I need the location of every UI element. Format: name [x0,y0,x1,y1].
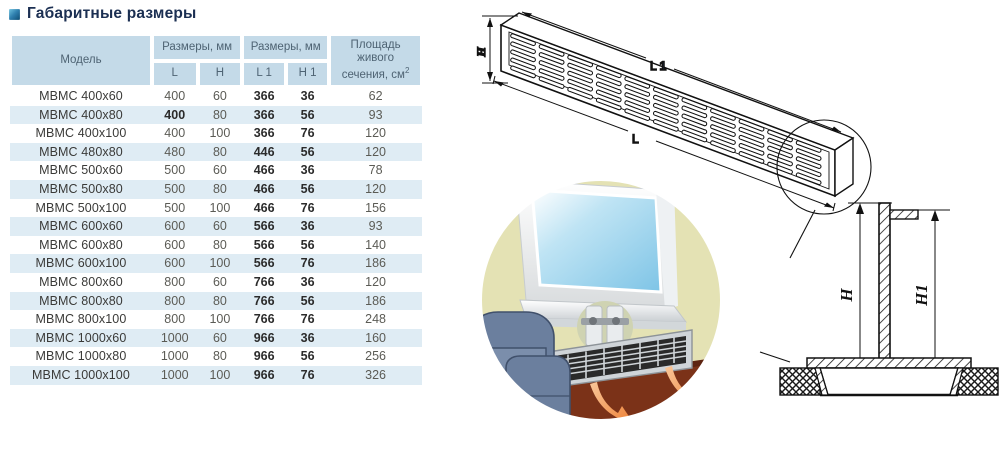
table-row: МВМС 400x10040010036676120 [10,124,422,143]
cell-model: МВМС 400x60 [10,87,152,106]
cell-model: МВМС 400x100 [10,124,152,143]
cell-h1: 76 [286,199,329,218]
cell-l1: 466 [242,161,286,180]
cell-h: 80 [198,292,243,311]
cell-free-area: 62 [329,87,422,106]
room-application-illustration [470,180,721,424]
dimensions-table: Модель Размеры, мм Размеры, мм Площадь ж… [10,34,422,385]
cell-l1: 766 [242,273,286,292]
cell-l: 800 [152,310,198,329]
cell-h: 60 [198,329,243,348]
mount-leader-line [760,352,790,362]
cell-h1: 56 [286,236,329,255]
cell-h1: 56 [286,180,329,199]
table-row: МВМС 600x806008056656140 [10,236,422,255]
cell-h: 100 [198,254,243,273]
cell-free-area: 120 [329,124,422,143]
cell-free-area: 120 [329,180,422,199]
cell-l1: 466 [242,180,286,199]
table-row: МВМС 500x805008046656120 [10,180,422,199]
cell-model: МВМС 400x80 [10,106,152,125]
cell-model: МВМС 600x100 [10,254,152,273]
cell-l: 1000 [152,329,198,348]
duct-body [820,368,958,395]
header-l: L [152,61,198,87]
detail-leader-line [790,210,815,258]
cell-h1: 56 [286,292,329,311]
header-group-inner: Размеры, мм [242,34,329,61]
grille-vertical-section: H H1 [837,203,950,383]
label-h-iso: H [474,47,488,58]
cell-h1: 76 [286,310,329,329]
cell-l: 600 [152,236,198,255]
technical-drawings: L 1 L H [460,0,1001,464]
label-h-section: H [837,288,856,303]
cell-l1: 966 [242,347,286,366]
cell-free-area: 186 [329,292,422,311]
label-l1: L 1 [650,59,667,73]
cell-l: 1000 [152,366,198,385]
cell-h: 80 [198,236,243,255]
cell-l1: 966 [242,366,286,385]
cell-free-area: 140 [329,236,422,255]
cell-l1: 766 [242,310,286,329]
cell-h1: 56 [286,347,329,366]
cell-free-area: 256 [329,347,422,366]
header-free-area-line2: сечения, см [342,69,405,81]
cell-h1: 56 [286,106,329,125]
cell-l: 500 [152,180,198,199]
cell-h: 80 [198,106,243,125]
cell-free-area: 120 [329,273,422,292]
cell-l: 600 [152,254,198,273]
cell-h: 100 [198,199,243,218]
cell-model: МВМС 800x100 [10,310,152,329]
table-row: МВМС 800x608006076636120 [10,273,422,292]
cell-h: 80 [198,347,243,366]
header-l1: L 1 [242,61,286,87]
table-row: МВМС 400x80400803665693 [10,106,422,125]
table-row: МВМС 1000x8010008096656256 [10,347,422,366]
table-row: МВМС 500x10050010046676156 [10,199,422,218]
cell-h: 100 [198,124,243,143]
cell-h: 60 [198,273,243,292]
cell-h: 60 [198,161,243,180]
cell-h1: 76 [286,124,329,143]
cell-h1: 76 [286,366,329,385]
cell-l1: 366 [242,124,286,143]
table-row: МВМС 800x10080010076676248 [10,310,422,329]
label-l: L [632,132,639,146]
table-row: МВМС 500x60500604663678 [10,161,422,180]
cell-l1: 766 [242,292,286,311]
table-row: МВМС 1000x100100010096676326 [10,366,422,385]
cell-free-area: 93 [329,217,422,236]
cell-l: 400 [152,87,198,106]
cell-l: 800 [152,292,198,311]
cell-l1: 966 [242,329,286,348]
cell-free-area: 186 [329,254,422,273]
cell-free-area: 120 [329,143,422,162]
label-h1-section: H1 [912,284,931,307]
page-title: Габаритные размеры [27,5,197,23]
cell-h: 60 [198,87,243,106]
cell-l: 480 [152,143,198,162]
header-free-area-line1: Площадь живого [351,39,401,64]
front-plate [807,358,971,368]
cell-free-area: 160 [329,329,422,348]
header-free-area: Площадь живого сечения, см2 [329,34,422,87]
cell-model: МВМС 480x80 [10,143,152,162]
cell-model: МВМС 500x100 [10,199,152,218]
cell-model: МВМС 1000x80 [10,347,152,366]
dimension-h-section [856,203,864,383]
table-row: МВМС 400x60400603663662 [10,87,422,106]
cell-l1: 566 [242,254,286,273]
cell-free-area: 326 [329,366,422,385]
wall-block-right [958,368,998,395]
cell-l1: 466 [242,199,286,218]
cell-l1: 566 [242,217,286,236]
dimension-h1-section [931,210,939,376]
cell-h1: 56 [286,143,329,162]
cell-l: 500 [152,199,198,218]
table-row: МВМС 480x804808044656120 [10,143,422,162]
square-bullet-icon [9,9,20,20]
table-row: МВМС 1000x6010006096636160 [10,329,422,348]
cell-l1: 366 [242,87,286,106]
cell-model: МВМС 800x80 [10,292,152,311]
cell-h: 60 [198,217,243,236]
cell-l: 600 [152,217,198,236]
cell-free-area: 78 [329,161,422,180]
cell-h: 80 [198,180,243,199]
table-body: МВМС 400x60400603663662МВМС 400x80400803… [10,87,422,385]
cell-h1: 36 [286,329,329,348]
cell-l: 1000 [152,347,198,366]
cell-l1: 566 [242,236,286,255]
table-row: МВМС 600x60600605663693 [10,217,422,236]
header-model: Модель [10,34,152,87]
cell-l: 800 [152,273,198,292]
cell-h: 80 [198,143,243,162]
header-free-area-superscript: 2 [405,66,409,75]
cell-model: МВМС 1000x60 [10,329,152,348]
cell-l1: 446 [242,143,286,162]
cell-h1: 76 [286,254,329,273]
wall-block-left [780,368,820,395]
cell-model: МВМС 500x60 [10,161,152,180]
cell-model: МВМС 800x60 [10,273,152,292]
cell-h1: 36 [286,161,329,180]
cell-h: 100 [198,310,243,329]
cell-model: МВМС 1000x100 [10,366,152,385]
cell-model: МВМС 600x60 [10,217,152,236]
cell-model: МВМС 600x80 [10,236,152,255]
cell-h1: 36 [286,217,329,236]
header-h1: H 1 [286,61,329,87]
section-title: Габаритные размеры [9,5,197,23]
header-group-outer: Размеры, мм [152,34,242,61]
cell-free-area: 156 [329,199,422,218]
cell-h1: 36 [286,273,329,292]
cell-free-area: 248 [329,310,422,329]
cell-l: 500 [152,161,198,180]
cell-h: 100 [198,366,243,385]
cell-l1: 366 [242,106,286,125]
cell-h1: 36 [286,87,329,106]
cell-free-area: 93 [329,106,422,125]
header-h: H [198,61,243,87]
cell-model: МВМС 500x80 [10,180,152,199]
table-header: Модель Размеры, мм Размеры, мм Площадь ж… [10,34,422,87]
cell-l: 400 [152,124,198,143]
table-row: МВМС 800x808008076656186 [10,292,422,311]
header-row-1: Модель Размеры, мм Размеры, мм Площадь ж… [10,34,422,61]
cell-l: 400 [152,106,198,125]
table-row: МВМС 600x10060010056676186 [10,254,422,273]
grille-wall-mount-section [760,352,998,395]
